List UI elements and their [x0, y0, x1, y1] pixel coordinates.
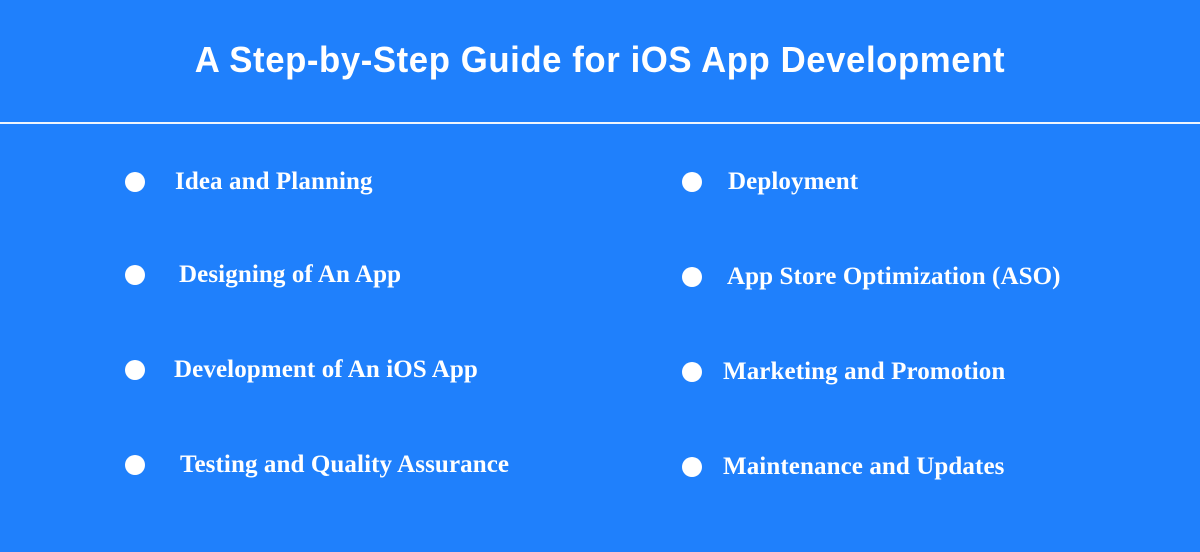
filled-circle-icon — [125, 265, 145, 285]
list-item-label: App Store Optimization (ASO) — [727, 262, 1061, 292]
steps-column-left: Idea and Planning Designing of An App De… — [0, 124, 600, 552]
filled-circle-icon — [682, 362, 702, 382]
list-item-label: Maintenance and Updates — [723, 452, 1005, 482]
list-item-label: Marketing and Promotion — [723, 357, 1005, 387]
filled-circle-icon — [125, 360, 145, 380]
filled-circle-icon — [682, 267, 702, 287]
filled-circle-icon — [682, 172, 702, 192]
list-item[interactable]: Idea and Planning — [125, 165, 373, 199]
list-item-label: Idea and Planning — [175, 167, 373, 197]
list-item[interactable]: Marketing and Promotion — [682, 355, 1005, 389]
list-item[interactable]: Development of An iOS App — [125, 353, 478, 387]
list-item-label: Deployment — [728, 167, 858, 197]
list-item[interactable]: Designing of An App — [125, 258, 401, 292]
header: A Step-by-Step Guide for iOS App Develop… — [0, 0, 1200, 122]
steps-column-right: Deployment App Store Optimization (ASO) … — [600, 124, 1200, 552]
list-item-label: Development of An iOS App — [174, 355, 478, 385]
list-item[interactable]: App Store Optimization (ASO) — [682, 260, 1061, 294]
steps-list: Idea and Planning Designing of An App De… — [0, 124, 1200, 552]
list-item[interactable]: Maintenance and Updates — [682, 450, 1005, 484]
list-item[interactable]: Deployment — [682, 165, 858, 199]
infographic-canvas: A Step-by-Step Guide for iOS App Develop… — [0, 0, 1200, 552]
filled-circle-icon — [125, 455, 145, 475]
list-item[interactable]: Testing and Quality Assurance — [125, 448, 509, 482]
filled-circle-icon — [682, 457, 702, 477]
list-item-label: Testing and Quality Assurance — [180, 450, 509, 480]
list-item-label: Designing of An App — [179, 260, 401, 290]
filled-circle-icon — [125, 172, 145, 192]
page-title: A Step-by-Step Guide for iOS App Develop… — [195, 39, 1005, 81]
